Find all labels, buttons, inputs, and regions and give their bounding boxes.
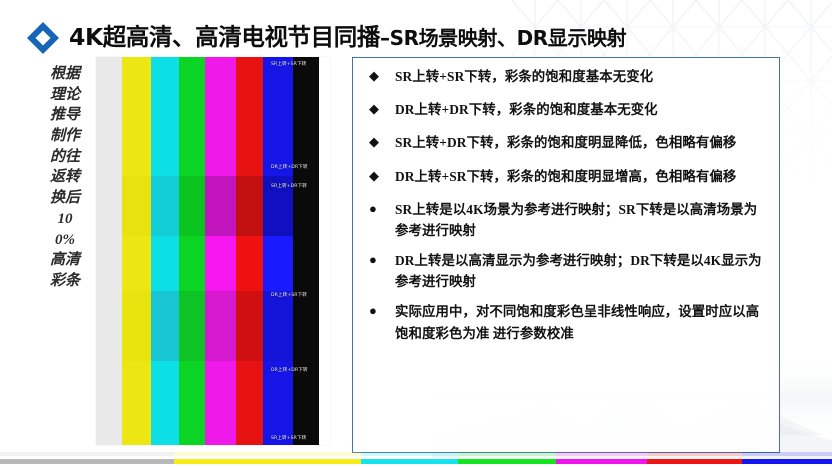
bullet-text: SR上转+SR下转，彩条的饱和度基本无变化 [395,66,769,87]
bullet-text: DR上转+SR下转，彩条的饱和度明显增高，色相略有偏移 [395,166,769,187]
bottom-accent-strip [0,459,832,464]
colorbar-column-black [293,57,319,445]
colorbar-band [122,291,151,361]
accent-segment-magenta [556,459,646,464]
colorbar-band [293,57,319,153]
colorbar-band [122,57,151,153]
colorbar-column-cyan [151,57,179,445]
accent-segment-red [647,459,742,464]
bullet-marker-icon: ● [367,301,395,321]
colorbar-band [236,57,263,153]
accent-segment-gray [0,459,174,464]
accent-segment-green [458,459,556,464]
accent-segment-magenta [556,452,646,456]
colorbar-band [122,176,151,236]
bullet-text: 实际应用中，对不同饱和度彩色呈非线性响应，设置时应以高饱和度彩色为准 进行参数校… [395,301,769,343]
colorbar-band [293,361,319,445]
colorbar-band [96,291,122,361]
colorbar-band [179,153,205,176]
colorbar-band [122,361,151,445]
colorbar-band [179,57,205,153]
accent-segment-gray [0,452,174,456]
bullet-item: ◆DR上转+DR下转，彩条的饱和度基本无变化 [367,99,769,120]
colorbar-band [205,57,236,153]
accent-segment-green [458,452,556,456]
colorbar-band [263,361,293,445]
colorbar-band [151,361,179,445]
title-sub: SR场景映射、DR显示映射 [390,26,627,50]
colorbar-column-magenta [205,57,236,445]
colorbar-band-label: DR上转+DR下转 [271,369,308,374]
colorbar-band [205,291,236,361]
colorbar-band [96,176,122,236]
colorbar-band [205,236,236,291]
bullet-item: ●DR上转是以高清显示为参考进行映射；DR下转是以4K显示为参考进行映射 [367,250,769,292]
diamond-icon [26,21,60,55]
bullet-marker-icon: ◆ [367,66,395,86]
colorbar-band [236,236,263,291]
colorbar-band [179,236,205,291]
accent-segment-yellow [174,459,361,464]
colorbar-band [151,236,179,291]
colorbar-band [263,236,293,291]
accent-segment-blue [742,459,832,464]
colorbar-band-label: SR上转+SR下转 [271,63,306,68]
colorbar-band-label: SR上转+DR下转 [271,185,307,190]
colorbar-band [96,57,122,153]
colorbar-band [205,176,236,236]
colorbar-test-pattern-image: SR上转+SR下转DR上转+DR下转SR上转+DR下转DR上转+SR下转DR上转… [96,57,330,445]
colorbar-column-blue [263,57,293,445]
colorbar-band [151,57,179,153]
slide-title-bar: 4K超高清、高清电视节目同播–SR场景映射、DR显示映射 [0,16,626,60]
colorbar-band [96,361,122,445]
bullet-item: ◆SR上转+SR下转，彩条的饱和度基本无变化 [367,66,769,87]
bullet-item: ◆DR上转+SR下转，彩条的饱和度明显增高，色相略有偏移 [367,166,769,187]
bullet-text: DR上转是以高清显示为参考进行映射；DR下转是以4K显示为参考进行映射 [395,250,769,292]
colorbar-band-label: SR上转+SR下转 [271,437,306,442]
colorbar-band-label: DR上转+SR下转 [271,294,307,299]
colorbar-column-green [179,57,205,445]
colorbar-band [205,153,236,176]
colorbar-band [151,291,179,361]
colorbar-band [205,361,236,445]
colorbar-band [179,291,205,361]
colorbar-band [122,153,151,176]
colorbar-column-yellow [122,57,151,445]
bullet-text: SR上转+DR下转，彩条的饱和度明显降低，色相略有偏移 [395,132,769,153]
colorbar-band [179,176,205,236]
colorbar-band [179,361,205,445]
title-dash: – [380,26,390,50]
bullet-text: DR上转+DR下转，彩条的饱和度基本无变化 [395,99,769,120]
bullet-text: SR上转是以4K场景为参考进行映射；SR下转是以高清场景为参考进行映射 [395,199,769,241]
accent-segment-blue [742,452,832,456]
bullet-marker-icon: ◆ [367,132,395,152]
bullet-item: ◆SR上转+DR下转，彩条的饱和度明显降低，色相略有偏移 [367,132,769,153]
bullet-marker-icon: ● [367,250,395,270]
accent-segment-cyan [361,452,458,456]
bullet-marker-icon: ● [367,199,395,219]
bullet-list-panel: ◆SR上转+SR下转，彩条的饱和度基本无变化◆DR上转+DR下转，彩条的饱和度基… [352,57,780,453]
colorbar-band [293,291,319,361]
accent-segment-red [647,452,742,456]
bullet-item: ●实际应用中，对不同饱和度彩色呈非线性响应，设置时应以高饱和度彩色为准 进行参数… [367,301,769,343]
colorbar-band [151,176,179,236]
colorbar-band [96,236,122,291]
colorbar-band [236,361,263,445]
slide-canvas: 4K超高清、高清电视节目同播–SR场景映射、DR显示映射 根据理论推导制作的往返… [0,0,832,467]
colorbar-band [122,236,151,291]
bullet-item: ●SR上转是以4K场景为参考进行映射；SR下转是以高清场景为参考进行映射 [367,199,769,241]
colorbar-band [263,57,293,153]
colorbar-band [236,176,263,236]
page-title: 4K超高清、高清电视节目同播–SR场景映射、DR显示映射 [69,26,626,50]
vertical-caption-text: 根据理论推导制作的往返转换后100%高清彩条 [50,64,80,444]
title-main: 4K超高清、高清电视节目同播 [69,23,380,51]
colorbar-band [293,236,319,291]
bullet-marker-icon: ◆ [367,166,395,186]
colorbar-band [151,153,179,176]
colorbar-band [263,291,293,361]
colorbar-column-red [236,57,263,445]
bottom-accent-strip-ghost [0,452,832,456]
colorbar-band-label: DR上转+DR下转 [271,166,308,171]
colorbar-band [236,291,263,361]
colorbar-column-gray [96,57,122,445]
bullet-marker-icon: ◆ [367,99,395,119]
colorbar-band [96,153,122,176]
accent-segment-cyan [361,459,458,464]
colorbar-band [236,153,263,176]
accent-segment-yellow [174,452,361,456]
